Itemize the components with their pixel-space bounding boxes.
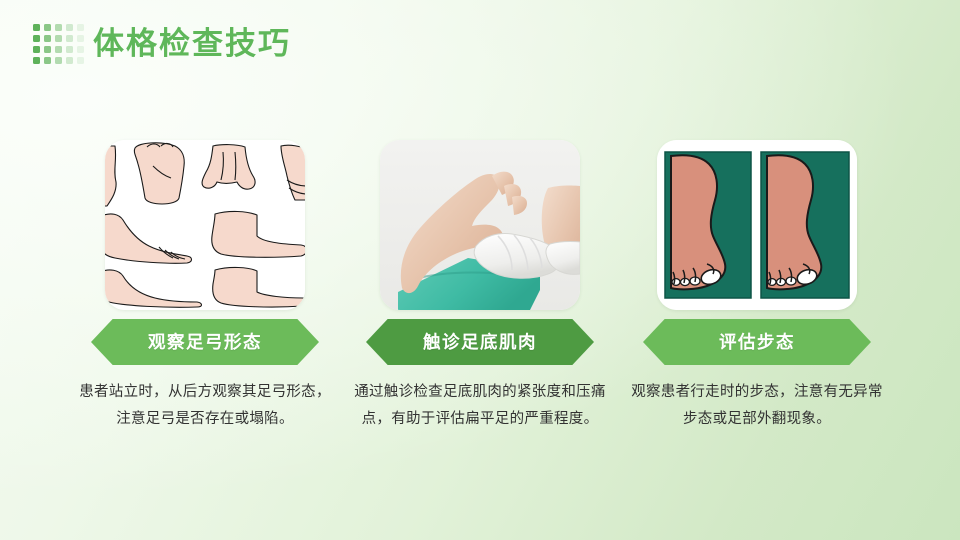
card-assess-gait[interactable]: 评估步态 观察患者行走时的步态，注意有无异常步态或足部外翻现象。 xyxy=(615,130,899,482)
card-description: 通过触诊检查足底肌肉的紧张度和压痛点，有助于评估扁平足的严重程度。 xyxy=(352,379,608,433)
card-description: 观察患者行走时的步态，注意有无异常步态或足部外翻现象。 xyxy=(629,379,885,433)
two-feet-top-view-comparison xyxy=(657,140,857,310)
foot-anatomy-illustration-grid xyxy=(105,140,305,310)
gloved-hand-palpating-foot-photo xyxy=(380,140,580,310)
card-palpate-muscle[interactable]: 触诊足底肌肉 通过触诊检查足底肌肉的紧张度和压痛点，有助于评估扁平足的严重程度。 xyxy=(338,130,622,482)
slide-canvas: 体格检查技巧 xyxy=(0,0,960,540)
dot-grid-decoration xyxy=(33,24,86,66)
page-title: 体格检查技巧 xyxy=(93,22,291,66)
card-banner-observe-arch[interactable]: 观察足弓形态 xyxy=(91,319,319,365)
card-banner-label: 观察足弓形态 xyxy=(148,319,262,365)
card-banner-label: 评估步态 xyxy=(719,319,795,365)
card-banner-label: 触诊足底肌肉 xyxy=(423,319,537,365)
card-banner-palpate-muscle[interactable]: 触诊足底肌肉 xyxy=(366,319,594,365)
card-row: 观察足弓形态 患者站立时，从后方观察其足弓形态，注意足弓是否存在或塌陷。 xyxy=(0,130,960,490)
card-banner-assess-gait[interactable]: 评估步态 xyxy=(643,319,871,365)
card-observe-arch[interactable]: 观察足弓形态 患者站立时，从后方观察其足弓形态，注意足弓是否存在或塌陷。 xyxy=(63,130,347,482)
card-description: 患者站立时，从后方观察其足弓形态，注意足弓是否存在或塌陷。 xyxy=(77,379,333,433)
slide-header: 体格检查技巧 xyxy=(0,0,960,92)
